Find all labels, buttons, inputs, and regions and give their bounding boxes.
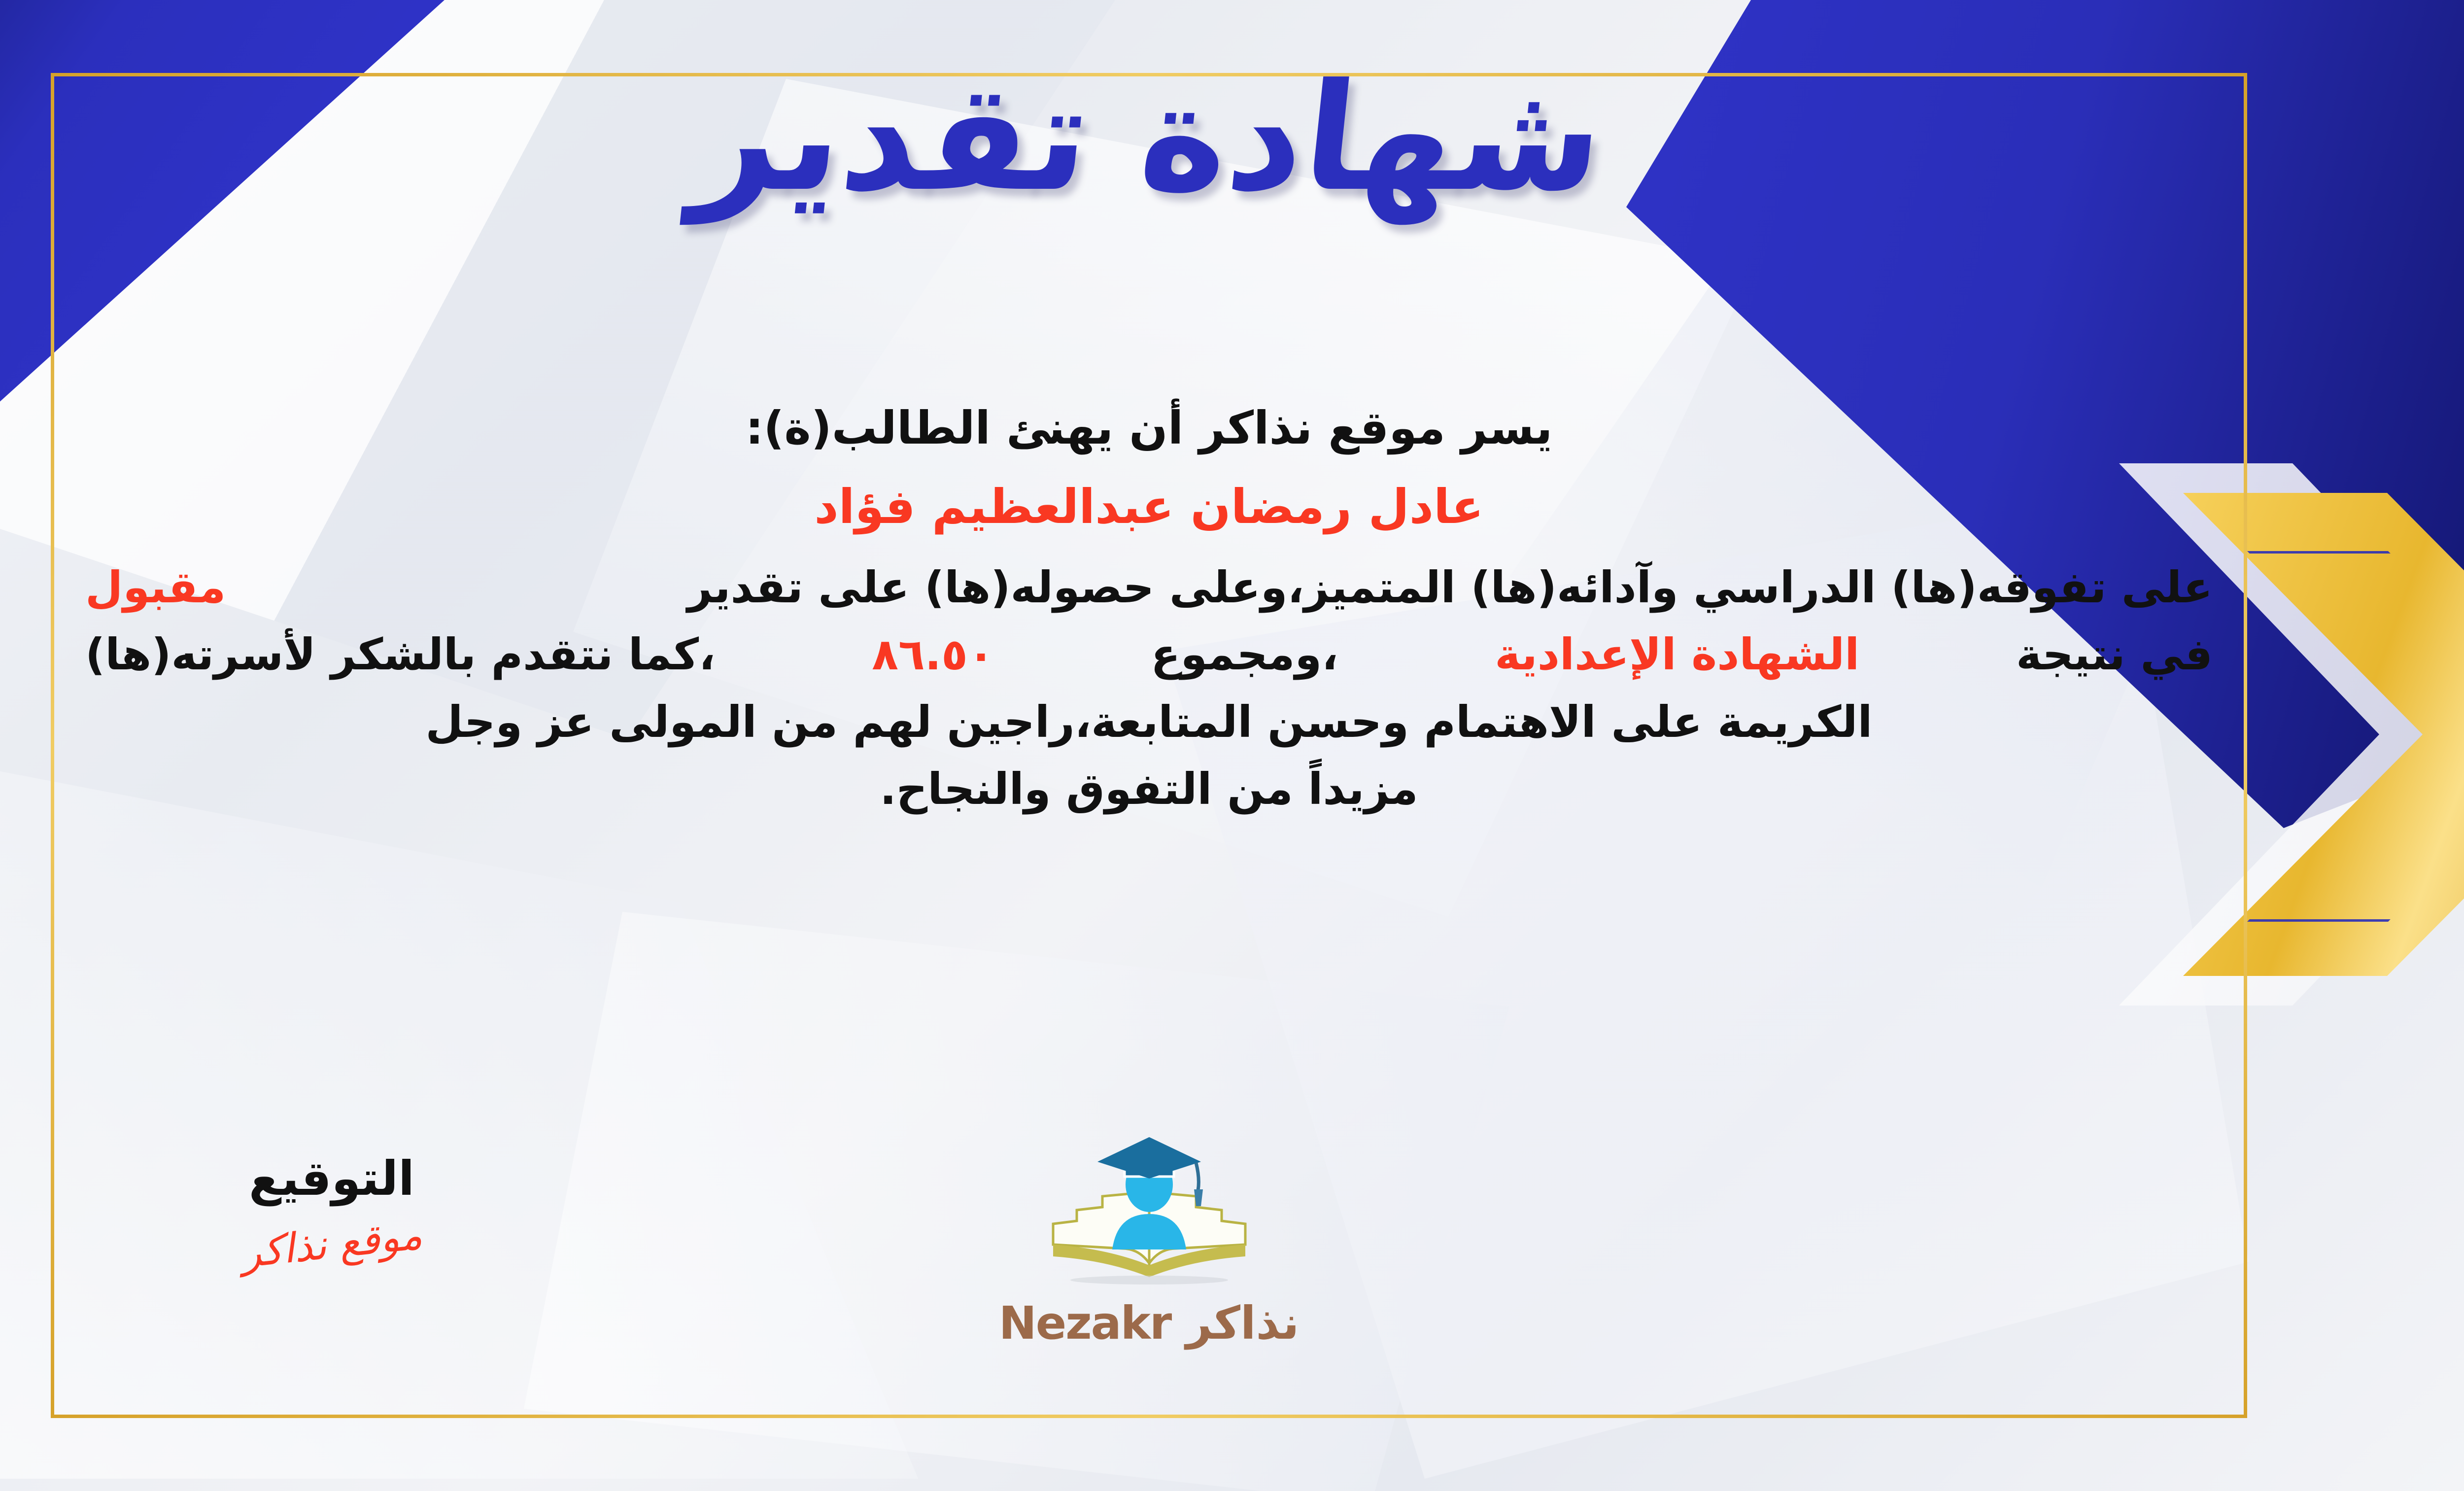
body-line-4-prefix: في نتيجة (2016, 621, 2213, 688)
site-logo: Nezakr نذاكر (962, 1131, 1336, 1350)
student-name: عادل رمضان عبدالعظيم فؤاد (85, 479, 2213, 534)
certificate-canvas: شهادة تقدير يسر موقع نذاكر أن يهنئ الطال… (0, 0, 2464, 1491)
certificate-body: يسر موقع نذاكر أن يهنئ الطالب(ة): عادل ر… (85, 394, 2213, 823)
certificate-footer: التوقيع موقع نذاكر (85, 1131, 2213, 1407)
intro-line: يسر موقع نذاكر أن يهنئ الطالب(ة): (85, 394, 2213, 462)
logo-wordmark: Nezakr نذاكر (962, 1297, 1336, 1350)
signature-block: التوقيع موقع نذاكر (144, 1151, 519, 1268)
graduation-book-icon (1033, 1131, 1265, 1294)
grade-value: مقبول (85, 554, 226, 621)
signature-label: التوقيع (144, 1151, 519, 1206)
certificate-title: شهادة تقدير (43, 64, 2255, 212)
body-line-5: الكريمة على الاهتمام وحسن المتابعة،راجين… (85, 689, 2213, 756)
body-paragraph: على تفوقه(ها) الدراسي وآدائه(ها) المتميز… (85, 554, 2213, 823)
body-line-4: في نتيجة الشهادة الإعدادية ،ومجموع ٨٦.٥٠… (85, 621, 2213, 688)
exam-name: الشهادة الإعدادية (1495, 621, 1859, 688)
signature-script: موقع نذاكر (239, 1212, 424, 1277)
body-line-3: على تفوقه(ها) الدراسي وآدائه(ها) المتميز… (85, 554, 2213, 621)
total-score: ٨٦.٥٠ (872, 621, 994, 688)
body-line-4-mid: ،ومجموع (1151, 621, 1338, 688)
body-line-3-text: على تفوقه(ها) الدراسي وآدائه(ها) المتميز… (687, 554, 2213, 621)
body-line-4-suffix: ،كما نتقدم بالشكر لأسرته(ها) (85, 621, 716, 688)
body-line-6: مزيداً من التفوق والنجاح. (85, 756, 2213, 823)
